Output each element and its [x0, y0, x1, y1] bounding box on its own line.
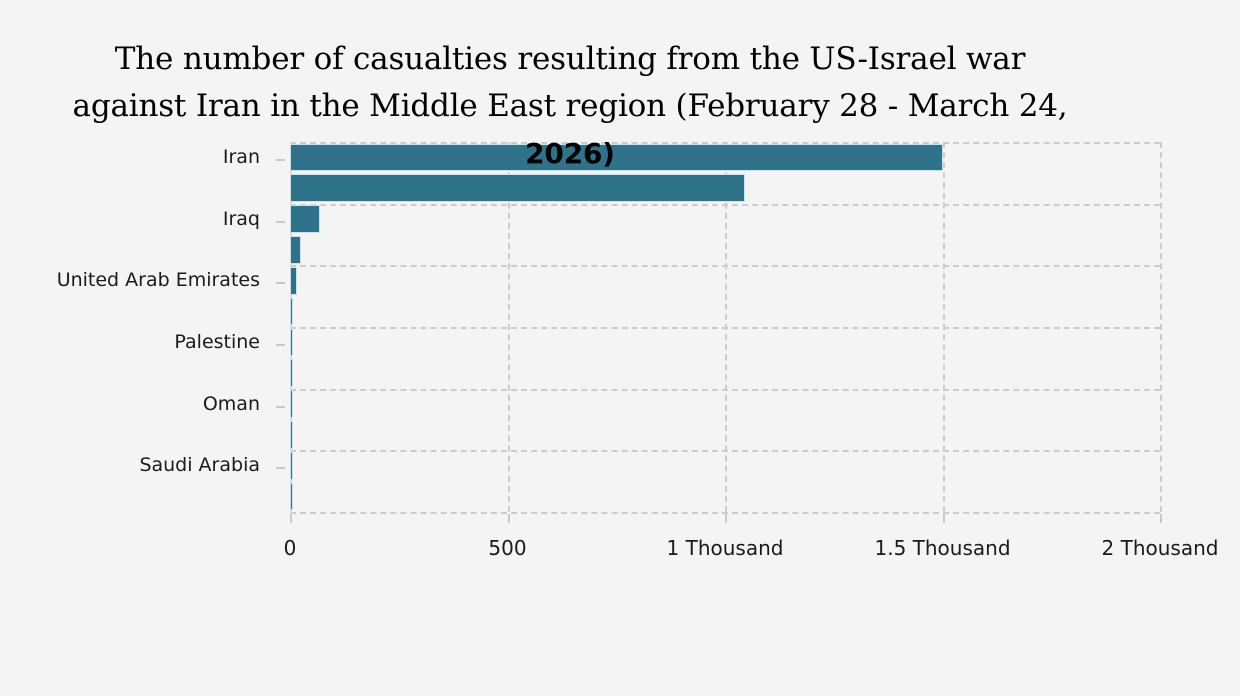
y-axis-tick — [276, 344, 285, 346]
y-axis-label: Iraq — [0, 208, 260, 230]
x-axis-tick — [290, 514, 292, 523]
bar — [290, 298, 293, 326]
y-axis-label: Oman — [0, 393, 260, 415]
bar — [290, 390, 293, 418]
y-axis-tick — [276, 467, 285, 469]
x-axis-tick — [1160, 514, 1162, 523]
x-axis: 05001 Thousand1.5 Thousand2 Thousand — [290, 514, 1190, 574]
bar — [290, 359, 293, 387]
y-axis-tick — [276, 221, 285, 223]
x-axis-label: 2 Thousand — [1102, 536, 1219, 560]
bar — [290, 483, 293, 511]
bar — [290, 174, 745, 202]
x-axis-label: 500 — [488, 536, 526, 560]
bar — [290, 452, 293, 480]
y-axis-label: Saudi Arabia — [0, 454, 260, 476]
x-axis-tick — [725, 514, 727, 523]
y-axis-label: Palestine — [0, 331, 260, 353]
x-axis-label: 1 Thousand — [667, 536, 784, 560]
bar — [290, 421, 293, 449]
y-axis-tick — [276, 406, 285, 408]
y-axis: IranIraqUnited Arab EmiratesPalestineOma… — [0, 142, 278, 512]
bar — [290, 236, 301, 264]
bar — [290, 267, 297, 295]
chart-title-line-1: The number of casualties resulting from … — [115, 41, 1025, 77]
y-axis-label: United Arab Emirates — [0, 269, 260, 291]
bar — [290, 205, 320, 233]
y-axis-label: Iran — [0, 146, 260, 168]
x-axis-label: 1.5 Thousand — [874, 536, 1010, 560]
x-axis-label: 0 — [284, 536, 297, 560]
y-axis-tick — [276, 282, 285, 284]
y-axis-tick — [276, 159, 285, 161]
plot-area — [290, 142, 1160, 512]
x-axis-tick — [943, 514, 945, 523]
bars-container — [290, 142, 1160, 512]
bar — [290, 329, 293, 357]
vertical-gridline — [1160, 142, 1162, 512]
bar — [290, 144, 943, 172]
bar-chart: The number of casualties resulting from … — [0, 0, 1240, 696]
x-axis-tick — [508, 514, 510, 523]
chart-title-line-2: against Iran in the Middle East region (… — [73, 88, 1068, 124]
